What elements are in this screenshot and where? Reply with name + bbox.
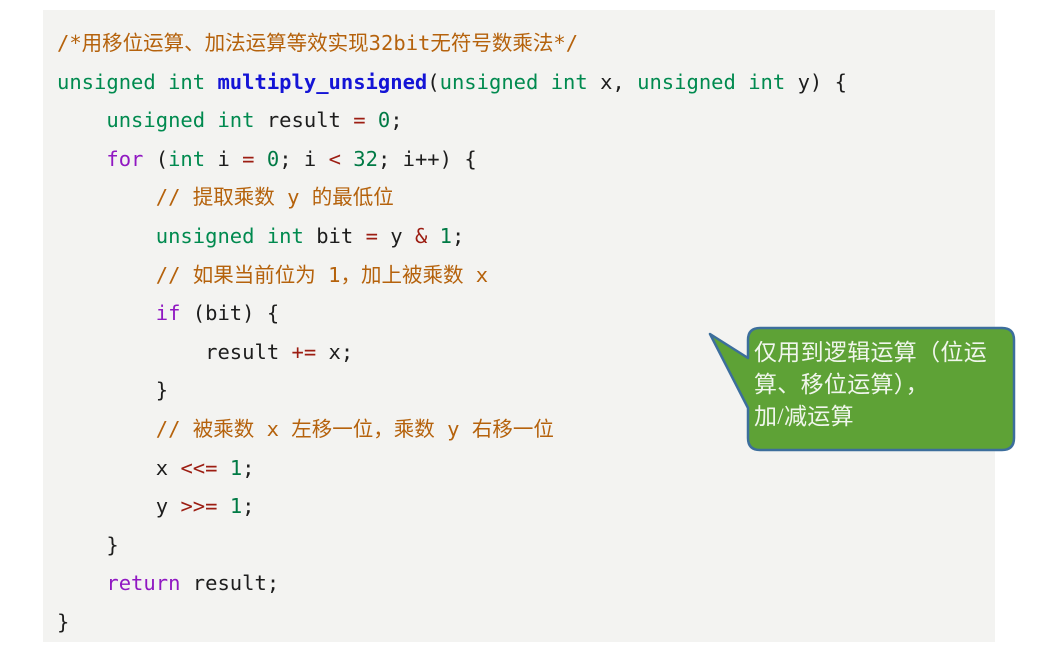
code-token-kw: return [106,571,192,595]
code-token-plain: result [267,108,353,132]
code-token-plain [255,147,267,171]
code-indent [57,533,106,557]
code-indent [57,301,156,325]
code-token-plain: ( [156,147,168,171]
code-indent [57,340,205,364]
code-token-plain: i [217,147,242,171]
code-indent [57,108,106,132]
code-line: unsigned int bit = y & 1; [43,217,995,256]
code-token-type: unsigned int [637,70,797,94]
code-token-kw: if [156,301,193,325]
code-token-op: += [292,340,317,364]
code-line: y >>= 1; [43,487,995,526]
code-token-type: unsigned int [106,108,266,132]
code-indent [57,185,156,209]
code-token-plain: x, [600,70,637,94]
code-token-plain [217,456,229,480]
code-token-op: & [415,224,427,248]
code-line: // 提取乘数 y 的最低位 [43,178,995,217]
code-token-plain: ; i++) { [378,147,477,171]
code-line: unsigned int result = 0; [43,101,995,140]
code-token-plain: x [156,456,181,480]
code-token-plain: } [57,610,69,634]
code-token-comment: /*用移位运算、加法运算等效实现32bit无符号数乘法*/ [57,31,578,55]
code-token-plain [366,108,378,132]
code-token-plain: } [106,533,118,557]
code-token-op: < [329,147,341,171]
code-token-num: 0 [267,147,279,171]
code-token-type: unsigned int [156,224,316,248]
code-token-plain: result [205,340,291,364]
code-token-plain: y [156,494,181,518]
code-token-plain: ; [242,494,254,518]
code-indent [57,147,106,171]
code-line: /*用移位运算、加法运算等效实现32bit无符号数乘法*/ [43,24,995,63]
callout-text: 仅用到逻辑运算（位运算、移位运算）， 加/减运算 [754,337,1006,433]
code-token-op: <<= [180,456,217,480]
code-token-plain [217,494,229,518]
code-token-comment: // 如果当前位为 1，加上被乘数 x [156,263,488,287]
code-token-comment: // 被乘数 x 左移一位，乘数 y 右移一位 [156,417,554,441]
code-token-plain: ; [452,224,464,248]
code-line: } [43,603,995,642]
code-token-op: = [353,108,365,132]
code-indent [57,224,156,248]
code-token-plain: ; i [279,147,328,171]
code-token-op: = [242,147,254,171]
code-token-num: 1 [230,456,242,480]
code-token-plain: y) { [798,70,847,94]
code-line: } [43,526,995,565]
code-indent [57,494,156,518]
code-token-comment: // 提取乘数 y 的最低位 [156,185,394,209]
code-indent [57,378,156,402]
code-line: for (int i = 0; i < 32; i++) { [43,140,995,179]
code-indent [57,571,106,595]
code-indent [57,456,156,480]
code-token-plain: result; [193,571,279,595]
code-token-plain: bit [316,224,365,248]
code-line: unsigned int multiply_unsigned(unsigned … [43,63,995,102]
code-token-plain: (bit) { [193,301,279,325]
code-token-plain: ; [390,108,402,132]
code-token-op: = [366,224,378,248]
code-token-num: 1 [440,224,452,248]
code-token-num: 0 [378,108,390,132]
code-token-type: unsigned int [57,70,217,94]
code-indent [57,417,156,441]
code-token-plain: ; [242,456,254,480]
code-token-fn: multiply_unsigned [217,70,427,94]
code-token-kw: for [106,147,155,171]
code-token-plain [341,147,353,171]
code-token-type: unsigned int [440,70,600,94]
callout-bubble: 仅用到逻辑运算（位运算、移位运算）， 加/减运算 [706,322,1018,456]
code-token-num: 1 [230,494,242,518]
code-token-type: int [168,147,217,171]
code-indent [57,263,156,287]
code-token-plain [427,224,439,248]
code-token-plain: y [378,224,415,248]
code-line: // 如果当前位为 1，加上被乘数 x [43,256,995,295]
code-line: return result; [43,564,995,603]
code-token-plain: } [156,378,168,402]
code-token-op: >>= [180,494,217,518]
code-token-num: 32 [353,147,378,171]
code-token-plain: ( [427,70,439,94]
code-token-plain: x; [316,340,353,364]
